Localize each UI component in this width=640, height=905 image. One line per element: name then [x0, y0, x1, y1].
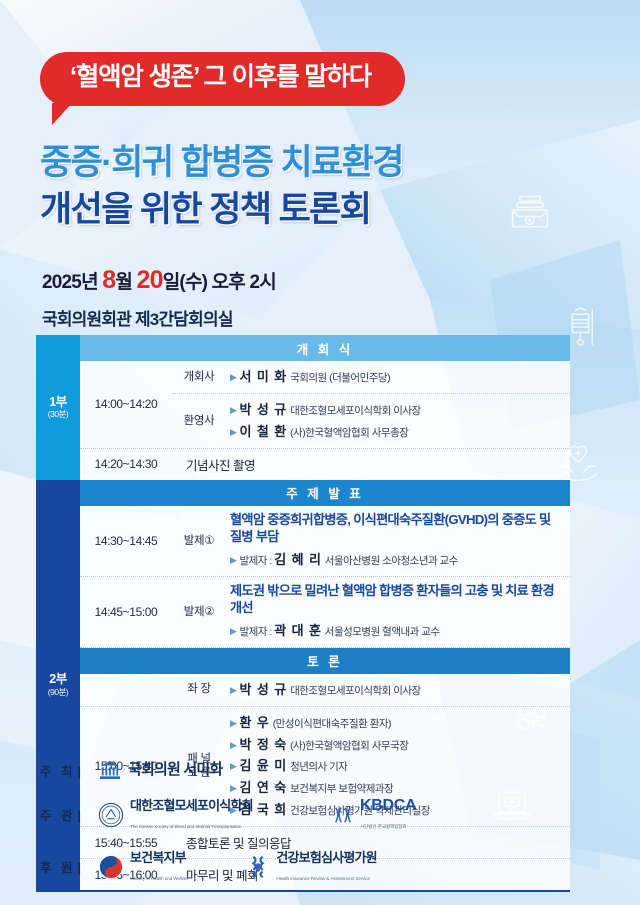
- event-meta: 2025년 8월 20일(수) 오후 2시 국회의원회관 제3간담회의실: [42, 262, 276, 330]
- organizer-label: 주 최|: [40, 761, 98, 780]
- ksbmt-seal-icon: [98, 802, 124, 828]
- part-2-duration: (90분): [48, 688, 68, 698]
- organizer-label: 주 관|: [40, 805, 98, 824]
- date-month-number: 8: [102, 266, 115, 294]
- program-section-part1: 1부 (30분) 개 회 식 14:00~14:20 개회사 ▶서 미 화 국회…: [36, 335, 570, 480]
- part-1-duration: (30분): [48, 410, 68, 420]
- hira-icon: [246, 855, 270, 879]
- row-time: 14:30~14:45: [80, 506, 172, 576]
- bullet-icon: ▶: [230, 626, 236, 636]
- organizer-item: KBDCA 사단법인 한국혈액암협회: [332, 797, 438, 832]
- event-date: 2025년 8월 20일(수) 오후 2시: [42, 262, 276, 300]
- table-row: 14:45~15:00 발제② 제도권 밖으로 밀려난 혈액암 합병증 환자들의…: [80, 577, 570, 648]
- section-header-topics: 주 제 발 표: [80, 480, 570, 506]
- person-entry: ▶이 철 환 (사)한국혈액암협회 사무총장: [230, 421, 562, 443]
- page-title: 중증·희귀 합병증 치료환경 개선을 위한 정책 토론회: [40, 140, 403, 233]
- table-row: 좌 장 ▶박 성 규 대한조혈모세포이식학회 이사장: [80, 674, 570, 707]
- table-row: 14:30~14:45 발제① 혈액암 중증희귀합병증, 이식편대숙주질환(GV…: [80, 506, 570, 577]
- presenter-label: 발제자 :: [239, 555, 274, 567]
- organizer-name-en: 사단법인 한국혈액암협회: [360, 824, 407, 829]
- title-line-1: 중증·희귀 합병증 치료환경: [40, 140, 403, 187]
- presenter-label: 발제자 :: [239, 626, 274, 638]
- presenter-affiliation: 서울성모병원 혈액내과 교수: [325, 626, 440, 638]
- panelist-entry: ▶박 정 숙 (사)한국혈액암협회 사무국장: [230, 734, 562, 756]
- banner-text: ‘혈액암 생존’ 그 이후를 말하다: [70, 62, 371, 94]
- bullet-icon: ▶: [230, 718, 236, 728]
- part-1-name: 1부: [49, 395, 66, 409]
- organizer-name: 보건복지부: [130, 850, 186, 865]
- presenter-name: 김 혜 리: [274, 552, 322, 567]
- row-time: [80, 674, 172, 706]
- row-time: 14:45~15:00: [80, 577, 172, 647]
- organizers-footer: 주 최| 국회의원 서미화: [40, 760, 460, 901]
- mohw-taegeuk-icon: [98, 854, 124, 880]
- organizer-item: 보건복지부 Ministry of Health and Welfare: [98, 849, 224, 884]
- headline-banner: ‘혈액암 생존’ 그 이후를 말하다: [40, 52, 405, 106]
- iv-drip-icon: [565, 305, 605, 349]
- date-day-number: 20: [137, 266, 163, 294]
- part-label-1: 1부 (30분): [36, 335, 80, 480]
- organizer-item: 건강보험심사평가원 Health Insurance Review & Asse…: [246, 849, 438, 884]
- person-name: 이 철 환: [239, 424, 287, 439]
- person-affiliation: 국회의원 (더불어민주당): [290, 372, 390, 384]
- row-kind: 발제②: [172, 577, 226, 647]
- organizer-name-en: Ministry of Health and Welfare: [130, 876, 188, 881]
- organizer-item: 대한조혈모세포이식학회 The Korean Society of Blood …: [98, 797, 310, 832]
- date-month-suffix: 월: [115, 272, 136, 293]
- organizer-name-en: The Korean Society of Blood and Marrow T…: [130, 824, 241, 829]
- row-kind: 좌 장: [172, 674, 226, 706]
- row-kind: 개회사: [172, 361, 226, 393]
- row-kind: 발제①: [172, 506, 226, 576]
- medical-records-box-icon: [508, 190, 552, 234]
- panelist-entry: ▶환 우 (만성이식편대숙주질환 환자): [230, 712, 562, 734]
- row-kind: 환영사: [172, 394, 226, 448]
- bullet-icon: ▶: [230, 372, 236, 382]
- person-affiliation: 대한조혈모세포이식학회 이사장: [290, 685, 421, 697]
- section-header-opening: 개 회 식: [80, 335, 570, 361]
- panelist-affiliation: (만성이식편대숙주질환 환자): [273, 718, 391, 730]
- panelist-name: 박 정 숙: [239, 737, 287, 752]
- organizer-row-sponsor: 후 원| 보건복지부 Ministry of Health and Welfar…: [40, 849, 460, 884]
- date-day-suffix: 일(수) 오후 2시: [163, 272, 276, 293]
- part-2-name: 2부: [49, 672, 66, 686]
- event-venue: 국회의원회관 제3간담회의실: [42, 305, 276, 330]
- kbdca-ribbon-icon: [332, 805, 354, 825]
- organizer-name: 건강보험심사평가원: [276, 850, 376, 865]
- poster-canvas: ‘혈액암 생존’ 그 이후를 말하다 중증·희귀 합병증 치료환경 개선을 위한…: [0, 0, 640, 905]
- bullet-icon: ▶: [230, 685, 236, 695]
- organizer-label: 후 원|: [40, 857, 98, 876]
- person-affiliation: 대한조혈모세포이식학회 이사장: [290, 405, 421, 417]
- presenter-name: 곽 대 훈: [274, 623, 322, 638]
- title-line-2: 개선을 위한 정책 토론회: [40, 187, 403, 234]
- bullet-icon: ▶: [230, 405, 236, 415]
- panelist-affiliation: (사)한국혈액암협회 사무국장: [290, 740, 408, 752]
- row-time: 14:20~14:30: [80, 449, 172, 480]
- section-header-discussion: 토 론: [80, 648, 570, 674]
- banner-tail-icon: [52, 103, 72, 125]
- table-subrow: 환영사 ▶박 성 규 대한조혈모세포이식학회 이사장 ▶이 철 환 (사)한국혈…: [172, 394, 570, 448]
- presenter-affiliation: 서울아산병원 소아청소년과 교수: [325, 555, 458, 567]
- organizer-row-host: 주 최| 국회의원 서미화: [40, 760, 460, 780]
- organizer-name-en: Health Insurance Review & Assessment Ser…: [276, 876, 370, 881]
- banner-bubble: ‘혈액암 생존’ 그 이후를 말하다: [40, 52, 405, 106]
- presenter-entry: ▶발제자 : 김 혜 리 서울아산병원 소아청소년과 교수: [230, 549, 562, 571]
- table-subrow: 개회사 ▶서 미 화 국회의원 (더불어민주당): [172, 361, 570, 394]
- organizer-row-organizer: 주 관| 대한조혈모세포이식학회 The Korean Society of B…: [40, 797, 460, 832]
- topic-title: 제도권 밖으로 밀려난 혈액암 합병증 환자들의 고충 및 치료 환경 개선: [230, 582, 562, 617]
- panelist-name: 환 우: [239, 715, 269, 730]
- organizer-name: 국회의원 서미화: [128, 761, 222, 778]
- table-row: 14:00~14:20 개회사 ▶서 미 화 국회의원 (더불어민주당) 환영사: [80, 361, 570, 449]
- table-row: 14:20~14:30 기념사진 촬영: [80, 449, 570, 480]
- person-entry: ▶서 미 화 국회의원 (더불어민주당): [230, 366, 562, 388]
- bullet-icon: ▶: [230, 427, 236, 437]
- topic-title: 혈액암 중증희귀합병증, 이식편대숙주질환(GVHD)의 중증도 및 질병 부담: [230, 511, 562, 546]
- assembly-building-icon: [98, 760, 122, 780]
- person-name: 박 성 규: [239, 682, 287, 697]
- row-time: 14:00~14:20: [80, 361, 172, 448]
- date-prefix: 2025년: [42, 272, 102, 293]
- row-description: 기념사진 촬영: [172, 449, 570, 480]
- person-name: 박 성 규: [239, 402, 287, 417]
- person-entry: ▶박 성 규 대한조혈모세포이식학회 이사장: [230, 399, 562, 421]
- person-affiliation: (사)한국혈액암협회 사무총장: [290, 427, 408, 439]
- person-name: 서 미 화: [239, 369, 287, 384]
- organizer-name: 대한조혈모세포이식학회: [130, 798, 253, 813]
- person-entry: ▶박 성 규 대한조혈모세포이식학회 이사장: [230, 679, 562, 701]
- bullet-icon: ▶: [230, 740, 236, 750]
- organizer-name: KBDCA: [360, 797, 416, 814]
- organizer-item: 국회의원 서미화: [98, 760, 222, 780]
- presenter-entry: ▶발제자 : 곽 대 훈 서울성모병원 혈액내과 교수: [230, 620, 562, 642]
- bullet-icon: ▶: [230, 555, 236, 565]
